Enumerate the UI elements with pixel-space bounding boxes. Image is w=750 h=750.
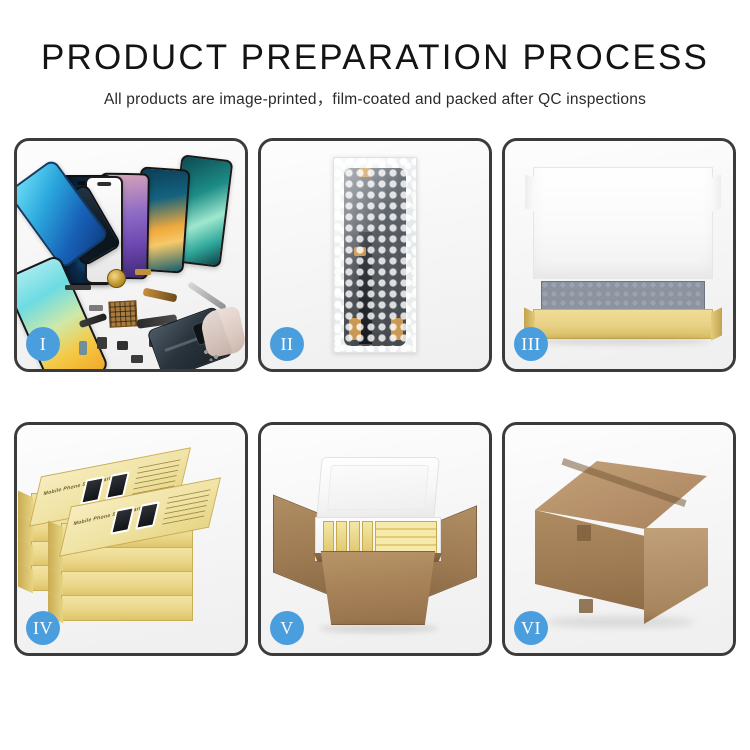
bubble-wrap-bag-icon [333,157,417,353]
step-badge: IV [26,611,60,645]
box-lid-icon [533,167,713,279]
ic-chip-array-icon [108,300,137,327]
process-step-6: VI [502,422,736,656]
styrofoam-lid-icon [316,457,439,519]
step-badge: VI [514,611,548,645]
retail-box-side-icon [61,595,193,621]
yellow-box-base-icon [533,309,713,339]
carton-tab-icon [579,599,593,613]
notch-icon [97,182,111,186]
process-step-5: V [258,422,492,656]
step-badge: III [514,327,548,361]
bubble-foam-fill-icon [541,281,705,311]
carton-front-icon [313,551,443,625]
spec-text-lines [162,489,211,527]
process-step-3: III [502,138,736,372]
box-stack-group: Mobile Phone Spare Parts Mobile Phone Sp… [25,441,243,641]
component-bar-icon [65,285,91,290]
flex-cable-gold-icon [143,288,178,303]
step-badge: V [270,611,304,645]
process-step-1: I [14,138,248,372]
process-step-2: II [258,138,492,372]
tweezers-icon [187,281,227,311]
page-header: PRODUCT PREPARATION PROCESS All products… [0,0,750,109]
page-subtitle: All products are image-printed，film-coat… [0,87,750,109]
screws-icon [203,349,221,361]
process-step-4: Mobile Phone Spare Parts Mobile Phone Sp… [14,422,248,656]
process-step-grid: I II III Mob [14,138,736,656]
component-chip-icon [131,355,143,363]
screen-thumbnail-icon [110,506,135,535]
retail-box-side-icon [61,571,193,597]
carton-tab-icon [577,525,591,541]
component-gold-bar-icon [135,269,151,275]
component-connector-icon [79,341,87,355]
page-title: PRODUCT PREPARATION PROCESS [0,38,750,78]
drop-shadow [319,624,439,633]
component-chip-icon [97,337,107,349]
speaker-module-icon [107,269,126,288]
component-chip-icon [117,341,128,350]
drop-shadow [545,617,695,627]
component-chip-icon [89,305,103,311]
step-badge: I [26,327,60,361]
drop-shadow [535,337,711,345]
plastic-gloss-overlay [334,158,416,352]
step-badge: II [270,327,304,361]
